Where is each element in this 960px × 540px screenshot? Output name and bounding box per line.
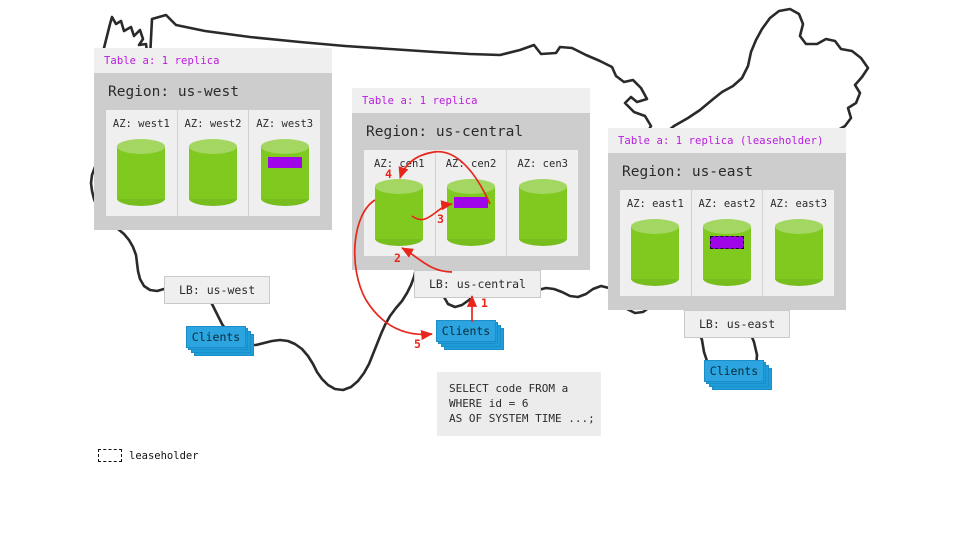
sql-query-callout: SELECT code FROM a WHERE id = 6 AS OF SY…	[437, 372, 601, 436]
az-label-east2: AZ: east2	[692, 198, 763, 210]
cylinder-top	[117, 139, 165, 154]
lb-us-west[interactable]: LB: us-west	[164, 276, 270, 304]
node-cylinder-cen1[interactable]	[375, 179, 423, 246]
cylinder-top	[631, 219, 679, 234]
clients-label-us-central[interactable]: Clients	[436, 320, 496, 342]
node-cylinder-west1[interactable]	[117, 139, 165, 206]
region-panel-us-east: Table a: 1 replica (leaseholder) Region:…	[608, 128, 846, 310]
cylinder-top	[703, 219, 751, 234]
region-header-us-west: Table a: 1 replica	[94, 48, 332, 73]
flow-step-label-3: 3	[437, 212, 444, 226]
az-label-west2: AZ: west2	[178, 118, 249, 130]
az-cen2[interactable]: AZ: cen2	[436, 150, 508, 256]
cylinder-top	[775, 219, 823, 234]
az-label-cen1: AZ: cen1	[364, 158, 435, 170]
lb-us-east[interactable]: LB: us-east	[684, 310, 790, 338]
node-cylinder-east1[interactable]	[631, 219, 679, 286]
node-cylinder-cen3[interactable]	[519, 179, 567, 246]
az-label-west3: AZ: west3	[249, 118, 320, 130]
clients-label-us-west[interactable]: Clients	[186, 326, 246, 348]
az-label-east1: AZ: east1	[620, 198, 691, 210]
az-east3[interactable]: AZ: east3	[763, 190, 834, 296]
az-west1[interactable]: AZ: west1	[106, 110, 178, 216]
az-west2[interactable]: AZ: west2	[178, 110, 250, 216]
node-cylinder-west2[interactable]	[189, 139, 237, 206]
cylinder-top	[519, 179, 567, 194]
legend: leaseholder	[98, 449, 199, 462]
clients-us-central[interactable]: Clients	[436, 320, 504, 352]
range-leaseholder-east2[interactable]	[710, 236, 744, 249]
az-row-us-central: AZ: cen1 AZ: cen2	[364, 150, 578, 256]
lb-us-central[interactable]: LB: us-central	[414, 270, 541, 298]
region-title-us-central: Region: us-central	[364, 113, 578, 150]
az-west3[interactable]: AZ: west3	[249, 110, 320, 216]
az-row-us-east: AZ: east1 AZ: east2	[620, 190, 834, 296]
range-replica-cen2[interactable]	[454, 197, 488, 208]
az-east1[interactable]: AZ: east1	[620, 190, 692, 296]
region-header-us-central: Table a: 1 replica	[352, 88, 590, 113]
clients-us-west[interactable]: Clients	[186, 326, 254, 358]
region-body-us-east: Region: us-east AZ: east1 AZ: east2	[608, 153, 846, 310]
az-label-cen2: AZ: cen2	[436, 158, 507, 170]
clients-us-east[interactable]: Clients	[704, 360, 772, 392]
range-replica-west3[interactable]	[268, 157, 302, 168]
region-panel-us-west: Table a: 1 replica Region: us-west AZ: w…	[94, 48, 332, 230]
region-header-us-east: Table a: 1 replica (leaseholder)	[608, 128, 846, 153]
flow-step-label-2: 2	[394, 251, 401, 265]
az-row-us-west: AZ: west1 AZ: west2	[106, 110, 320, 216]
node-cylinder-west3[interactable]	[261, 139, 309, 206]
clients-label-us-east[interactable]: Clients	[704, 360, 764, 382]
node-cylinder-east3[interactable]	[775, 219, 823, 286]
node-cylinder-cen2[interactable]	[447, 179, 495, 246]
region-title-us-west: Region: us-west	[106, 73, 320, 110]
flow-step-label-5: 5	[414, 337, 421, 351]
az-label-west1: AZ: west1	[106, 118, 177, 130]
cylinder-top	[447, 179, 495, 194]
legend-label: leaseholder	[129, 450, 199, 462]
az-label-cen3: AZ: cen3	[507, 158, 578, 170]
cylinder-top	[375, 179, 423, 194]
az-east2[interactable]: AZ: east2	[692, 190, 764, 296]
cylinder-top	[189, 139, 237, 154]
cylinder-top	[261, 139, 309, 154]
flow-step-label-4: 4	[385, 167, 392, 181]
region-body-us-west: Region: us-west AZ: west1 AZ: west2	[94, 73, 332, 230]
region-body-us-central: Region: us-central AZ: cen1 AZ: cen2	[352, 113, 590, 270]
az-cen3[interactable]: AZ: cen3	[507, 150, 578, 256]
az-label-east3: AZ: east3	[763, 198, 834, 210]
dashed-rectangle-icon	[98, 449, 122, 462]
region-title-us-east: Region: us-east	[620, 153, 834, 190]
flow-step-label-1: 1	[481, 296, 488, 310]
az-cen1[interactable]: AZ: cen1	[364, 150, 436, 256]
node-cylinder-east2[interactable]	[703, 219, 751, 286]
diagram-canvas: Table a: 1 replica Region: us-west AZ: w…	[0, 0, 960, 540]
